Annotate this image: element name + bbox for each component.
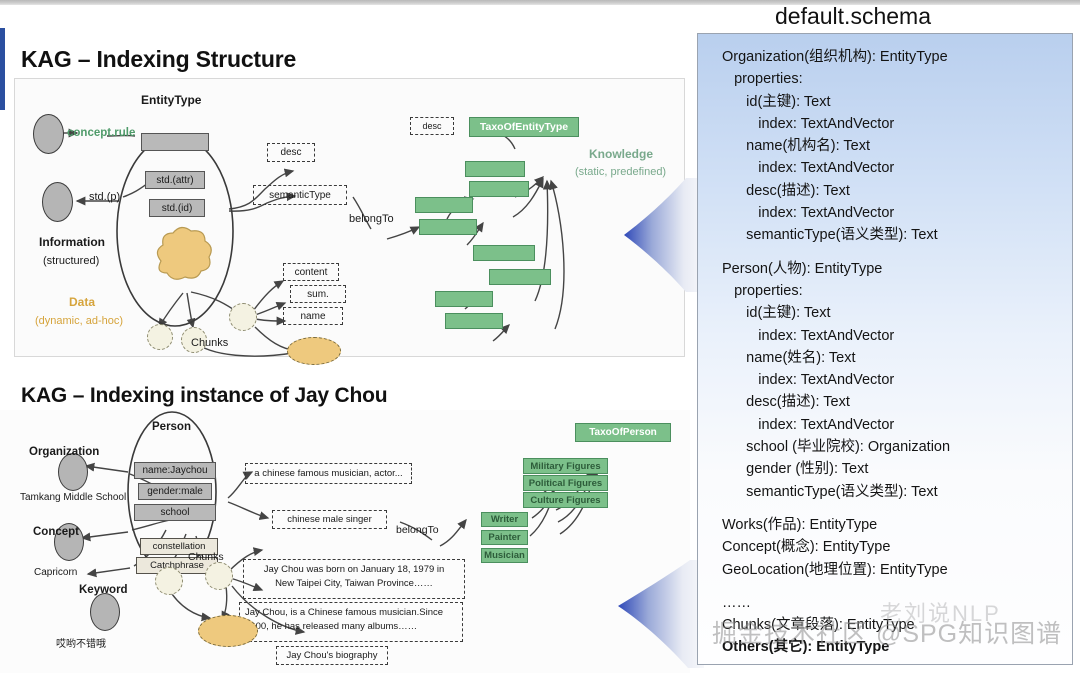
schema-line: GeoLocation(地理位置): EntityType: [722, 559, 1064, 581]
slide1-name-box: name: [283, 307, 343, 325]
slide1-sum-box: sum.: [290, 285, 346, 303]
slide1-std-id-box: std.(id): [149, 199, 205, 217]
watermark-primary: 掘金技术社区 @SPG知识图谱: [712, 614, 1080, 650]
schema-line: [722, 247, 1064, 258]
slide2-taxo-leaf-1: Painter: [481, 530, 528, 545]
slide2-chunk2-line1: Jay Chou, is a Chinese famous musician.S…: [245, 606, 457, 620]
slide1-green-node-3: [415, 197, 473, 213]
slide2-school-box: school: [134, 504, 216, 521]
slide2-keyword-value-label: 哎哟不错哦: [56, 635, 106, 650]
slide1-green-node-8: [445, 313, 503, 329]
schema-line: id(主键): Text: [722, 302, 1064, 324]
schema-line: index: TextAndVector: [722, 113, 1064, 135]
slide1-green-node-2: [469, 181, 529, 197]
schema-line: properties:: [722, 68, 1064, 90]
slide2-person-label: Person: [152, 421, 191, 433]
slide2-chunk1-line1: Jay Chou was born on January 18, 1979 in: [249, 563, 459, 577]
slide1-chunk-circle-a: [147, 324, 173, 350]
slide1-knowledge-sub-label: (static, predefined): [575, 166, 666, 178]
slide2-chunk-box-1: Jay Chou was born on January 18, 1979 in…: [243, 559, 465, 599]
slide2-keyword-circle: [155, 567, 183, 595]
slide2-taxo-mid-1: Political Figures: [523, 475, 608, 491]
schema-line: Person(人物): EntityType: [722, 258, 1064, 280]
schema-line: Concept(概念): EntityType: [722, 536, 1064, 558]
slide2-taxo-mid-0: Military Figures: [523, 458, 608, 474]
slide2-title: KAG – Indexing instance of Jay Chou: [21, 384, 387, 408]
slide2-organization-value-label: Tamkang Middle School: [20, 492, 126, 503]
schema-line: gender (性别): Text: [722, 458, 1064, 480]
slide2-taxo-leaf-0: Writer: [481, 512, 528, 527]
slide2-chunk-box-3: Jay Chou's biography: [276, 646, 388, 665]
slide1-green-node-6: [489, 269, 551, 285]
slide1-concept-ellipse: [33, 114, 64, 154]
slide1-concept-rule-label: concept.rule: [67, 127, 135, 139]
slide2-chunks-circle: [205, 562, 233, 590]
schema-line: semanticType(语义类型): Text: [722, 224, 1064, 246]
slide2-taxo-box: TaxoOfPerson: [575, 423, 671, 442]
schema-line: Works(作品): EntityType: [722, 514, 1064, 536]
slide1-std-attr-box: std.(attr): [145, 171, 205, 189]
slide1-taxo-box: TaxoOfEntityType: [469, 117, 579, 137]
schema-line: semanticType(语义类型): Text: [722, 481, 1064, 503]
slide1-chunk-circle-c: [229, 303, 257, 331]
slide2-name-box: name:Jaychou: [134, 462, 216, 479]
schema-text-block: Organization(组织机构): EntityType propertie…: [722, 46, 1064, 659]
slide1-entitytype-label: EntityType: [141, 93, 201, 107]
slide1-gold-oval: [287, 337, 341, 365]
slide2-gender-box: gender:male: [138, 483, 212, 500]
schema-line: index: TextAndVector: [722, 369, 1064, 391]
schema-line: Organization(组织机构): EntityType: [722, 46, 1064, 68]
schema-line: school (毕业院校): Organization: [722, 436, 1064, 458]
slide2-diagram: name:Jaychou gender:male school constell…: [0, 410, 690, 673]
schema-line: id(主键): Text: [722, 91, 1064, 113]
slide2-taxo-mid-2: Culture Figures: [523, 492, 608, 508]
slide2-keyword-ellipse: [90, 593, 120, 631]
schema-line: index: TextAndVector: [722, 157, 1064, 179]
slide1-green-node-4: [419, 219, 477, 235]
slide2-keyword-label: Keyword: [79, 584, 128, 596]
slide2-semantictype-box: chinese male singer: [272, 510, 387, 529]
schema-line: desc(描述): Text: [722, 391, 1064, 413]
slide1-green-node-7: [435, 291, 493, 307]
slide2-concept-value-label: Capricorn: [34, 567, 77, 578]
slide1-chunks-label: Chunks: [191, 337, 228, 349]
slide2-chunk2-line2: 2000, he has released many albums……: [245, 620, 457, 634]
schema-line: properties:: [722, 280, 1064, 302]
slide1-blank-attr-box: [141, 133, 209, 151]
slide1-diagram: std.(attr) std.(id) desc semanticType de…: [14, 78, 685, 357]
slide2-desc-box: a chinese famous musician, actor...: [245, 463, 412, 484]
slide2-organization-ellipse: [58, 453, 88, 491]
slide1-information-ellipse: [42, 182, 73, 222]
schema-line: name(姓名): Text: [722, 347, 1064, 369]
schema-line: desc(描述): Text: [722, 180, 1064, 202]
slide2-organization-label: Organization: [29, 446, 99, 458]
slide1-semantictype-box: semanticType: [253, 185, 347, 205]
slide1-desc-box: desc: [267, 143, 315, 162]
schema-title: default.schema: [775, 3, 931, 30]
schema-line: index: TextAndVector: [722, 325, 1064, 347]
slide2-concept-label: Concept: [33, 526, 79, 538]
slide1-title: KAG – Indexing Structure: [21, 46, 296, 73]
slide1-knowledge-label: Knowledge: [589, 147, 653, 161]
slide1-desc-top-box: desc: [410, 117, 454, 135]
slide1-green-node-1: [465, 161, 525, 177]
schema-line: name(机构名): Text: [722, 135, 1064, 157]
slide1-data-sub-label: (dynamic, ad-hoc): [35, 315, 123, 327]
schema-line: index: TextAndVector: [722, 414, 1064, 436]
slide2-chunk1-line2: New Taipei City, Taiwan Province……: [249, 577, 459, 591]
schema-line: index: TextAndVector: [722, 202, 1064, 224]
slide1-content-box: content: [283, 263, 339, 281]
slide1-green-node-5: [473, 245, 535, 261]
slide1-information-label: Information: [39, 235, 105, 249]
slide2-taxo-leaf-2: Musician: [481, 548, 528, 563]
slide2-chunks-label: Chunks: [188, 551, 224, 563]
blue-wedge-arrow-bottom: [600, 566, 705, 668]
slide1-data-label: Data: [69, 295, 95, 309]
slides-column: KAG – Indexing Structure: [0, 5, 690, 668]
schema-line: [722, 503, 1064, 514]
blue-wedge-arrow-top: [608, 178, 708, 292]
slide1-std-p-label: std.(p): [89, 191, 120, 203]
slide1-information-sub-label: (structured): [43, 255, 99, 267]
slide2-gold-oval: [198, 615, 258, 647]
slide2-belongto-label: belongTo: [396, 524, 439, 536]
schema-panel: Organization(组织机构): EntityType propertie…: [697, 33, 1073, 665]
slide2-chunk-box-2: Jay Chou, is a Chinese famous musician.S…: [239, 602, 463, 642]
schema-line: [722, 581, 1064, 592]
slide1-belongto-label: belongTo: [349, 213, 394, 225]
